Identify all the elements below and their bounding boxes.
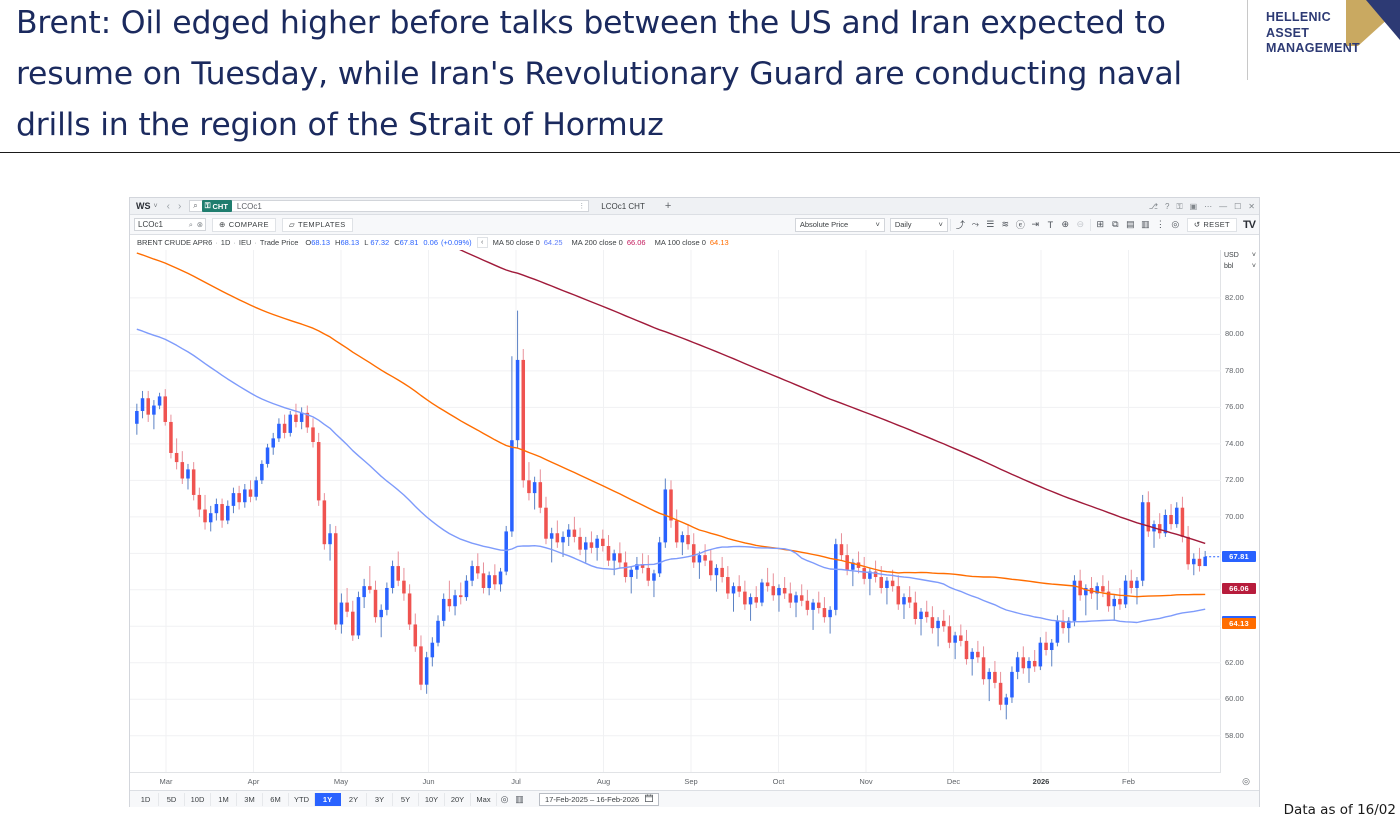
legend-sep: · — [212, 238, 221, 247]
indicators-icon[interactable]: ⤳ — [968, 217, 983, 233]
search-icon: ⌕ — [193, 201, 201, 211]
grid-layout-icon[interactable]: ⊞ — [1093, 217, 1108, 233]
time-tick: Nov — [859, 777, 872, 786]
folder-icon: ▱ — [289, 220, 295, 229]
time-tick: Feb — [1122, 777, 1135, 786]
legend-ma50-label: MA 50 close 0 — [493, 238, 540, 247]
zoom-out-icon: ⊖ — [1073, 217, 1088, 233]
zoom-in-icon[interactable]: ⊕ — [1058, 217, 1073, 233]
clear-icon[interactable]: ⊗ — [197, 220, 203, 229]
tab-lcoc1-cht[interactable]: LCOc1 CHT — [593, 202, 659, 211]
previous-bar-button[interactable]: ‹ — [477, 237, 488, 248]
lock-icon: ⚿ — [205, 201, 211, 211]
timeframe-5y[interactable]: 5Y — [393, 793, 419, 806]
legend-ma50-value: 64.25 — [540, 238, 563, 247]
price-axis[interactable]: USD ˅ bbl ˅ 82.0080.0078.0076.0074.0072.… — [1220, 250, 1259, 772]
axis-settings-icon[interactable]: ◎ — [1242, 776, 1250, 787]
timeframe-3m[interactable]: 3M — [237, 793, 263, 806]
time-tick: Jul — [511, 777, 521, 786]
legend-ma200-label: MA 200 close 0 — [563, 238, 623, 247]
legend-interval: 1D — [221, 238, 231, 247]
workspace-label[interactable]: WS — [130, 201, 154, 211]
settings-icon[interactable]: ◎ — [497, 794, 512, 805]
timeframe-1y[interactable]: 1Y — [315, 793, 341, 806]
symbol-value: LCOc1 — [138, 220, 163, 229]
lock-icon[interactable]: ⚿ — [1176, 202, 1182, 212]
time-tick: Dec — [947, 777, 960, 786]
timeframe-max[interactable]: Max — [471, 793, 497, 806]
snapshot-icon[interactable]: ⧉ — [1108, 217, 1123, 233]
more-icon[interactable]: ⋮ — [1153, 217, 1168, 233]
close-button[interactable]: ✕ — [1248, 202, 1255, 211]
company-logo: HELLENIC ASSET MANAGEMENT — [1248, 0, 1400, 78]
ma-line — [137, 253, 1205, 597]
logo-text: HELLENIC ASSET MANAGEMENT — [1266, 10, 1360, 57]
legend-high-value: 68.13 — [340, 238, 359, 247]
search-icon[interactable]: ⌕ — [189, 220, 193, 230]
price-mode-value: Absolute Price — [800, 220, 848, 229]
address-bar[interactable]: ⌕ ⚿ CHT LCOc1 ⋮ — [189, 200, 589, 212]
legend-ma200-value: 66.06 — [623, 238, 646, 247]
timeframe-10y[interactable]: 10Y — [419, 793, 445, 806]
candlestick-plot[interactable] — [130, 250, 1221, 772]
layout-icon[interactable]: ▥ — [512, 794, 527, 805]
price-tick: 58.00 — [1225, 731, 1244, 740]
price-mode-select[interactable]: Absolute Price ˅ — [795, 218, 885, 232]
timeframe-list: 1D5D10D1M3M6MYTD1Y2Y3Y5Y10Y20YMax — [133, 793, 497, 806]
chevron-down-icon: ˅ — [938, 220, 942, 229]
window-controls: ⎇ ? ⚿ ▣ ⋯ — ☐ ✕ — [1149, 198, 1255, 215]
timeframe-20y[interactable]: 20Y — [445, 793, 471, 806]
more-icon[interactable]: ⋯ — [1204, 202, 1212, 211]
new-tab-button[interactable]: + — [659, 200, 677, 212]
data-as-of-note: Data as of 16/02 — [1284, 802, 1396, 818]
price-tick: 70.00 — [1225, 512, 1244, 521]
price-tick: 78.00 — [1225, 366, 1244, 375]
interval-select[interactable]: Daily ˅ — [890, 218, 948, 232]
workspace-caret-icon[interactable]: ˅ — [154, 203, 163, 210]
timeframe-10d[interactable]: 10D — [185, 793, 211, 806]
time-tick: Apr — [248, 777, 260, 786]
grid-lines — [130, 250, 1221, 772]
legend-close-value: 67.81 — [400, 238, 419, 247]
compare-button[interactable]: ⊕ COMPARE — [212, 218, 276, 232]
chart-svg — [130, 250, 1221, 772]
share-icon[interactable]: ⎇ — [1149, 202, 1158, 211]
timeframe-1d[interactable]: 1D — [133, 793, 159, 806]
time-tick: Mar — [160, 777, 173, 786]
time-tick: Aug — [597, 777, 610, 786]
bars-style-icon[interactable]: ☰ — [983, 217, 998, 233]
candles — [135, 311, 1207, 720]
time-tick: Oct — [773, 777, 785, 786]
symbol-input[interactable]: LCOc1 ⌕ ⊗ — [134, 218, 206, 231]
legend-open-label: O — [298, 238, 311, 247]
compare-label: COMPARE — [229, 220, 269, 229]
reset-button[interactable]: ↺ RESET — [1187, 218, 1237, 232]
chevron-down-icon: ˅ — [1252, 263, 1256, 270]
currency-select[interactable]: USD ˅ — [1220, 250, 1259, 261]
ma100-price-tag: 64.13 — [1222, 618, 1256, 629]
timeframe-2y[interactable]: 2Y — [341, 793, 367, 806]
price-tick: 82.00 — [1225, 293, 1244, 302]
chevron-down-icon: ˅ — [1252, 252, 1256, 259]
chart-area[interactable]: USD ˅ bbl ˅ 82.0080.0078.0076.0074.0072.… — [130, 250, 1259, 790]
price-tick: 62.00 — [1225, 658, 1244, 667]
time-axis[interactable]: MarAprMayJunJulAugSepOctNovDec2026Feb — [130, 772, 1221, 790]
toolbar-divider — [1090, 219, 1091, 231]
app-badge: ⚿ CHT — [202, 200, 232, 212]
slide-header: Brent: Oil edged higher before talks bet… — [0, 0, 1400, 153]
date-range-value: 17-Feb-2025 – 16-Feb-2026 — [545, 795, 639, 804]
ma200-price-tag: 66.06 — [1222, 583, 1256, 594]
legend-instrument: BRENT CRUDE APR6 — [137, 238, 212, 247]
timeframe-3y[interactable]: 3Y — [367, 793, 393, 806]
settings-icon[interactable]: ◎ — [1168, 217, 1183, 233]
price-tick: 60.00 — [1225, 694, 1244, 703]
currency-value: USD — [1224, 252, 1239, 259]
compare-icon: ⊕ — [219, 220, 226, 229]
price-tick: 80.00 — [1225, 329, 1244, 338]
stats-icon[interactable]: ▥ — [1138, 217, 1153, 233]
templates-button[interactable]: ▱ TEMPLATES — [282, 218, 353, 232]
text-icon[interactable]: T — [1043, 217, 1058, 233]
maximize-button[interactable]: ☐ — [1234, 202, 1241, 211]
app-badge-label: CHT — [212, 202, 227, 211]
chevron-down-icon: ˅ — [875, 220, 879, 229]
page-title: Brent: Oil edged higher before talks bet… — [16, 0, 1216, 151]
templates-label: TEMPLATES — [298, 220, 346, 229]
price-tick: 72.00 — [1225, 475, 1244, 484]
timeframe-5d[interactable]: 5D — [159, 793, 185, 806]
chart-toolbar: LCOc1 ⌕ ⊗ ⊕ COMPARE ▱ TEMPLATES Absolute… — [130, 215, 1259, 235]
back-icon[interactable]: ‹ — [163, 201, 174, 212]
timeframe-bar: 1D5D10D1M3M6MYTD1Y2Y3Y5Y10Y20YMax ◎ ▥ 17… — [130, 790, 1259, 807]
window-title-bar: WS ˅ ‹ › ⌕ ⚿ CHT LCOc1 ⋮ LCOc1 CHT + ⎇ ?… — [130, 198, 1259, 215]
legend-open-value: 68.13 — [311, 238, 330, 247]
wave-icon[interactable]: ≋ — [998, 217, 1013, 233]
reset-icon: ↺ — [1194, 220, 1201, 229]
address-more-icon[interactable]: ⋮ — [578, 202, 585, 210]
calendar-icon — [645, 794, 653, 804]
help-icon[interactable]: ? — [1165, 202, 1169, 211]
timeframe-ytd[interactable]: YTD — [289, 793, 315, 806]
price-tick: 76.00 — [1225, 402, 1244, 411]
tradingview-logo: TV — [1243, 219, 1255, 231]
alert-icon[interactable]: ⇥ — [1028, 217, 1043, 233]
trading-terminal-window: WS ˅ ‹ › ⌕ ⚿ CHT LCOc1 ⋮ LCOc1 CHT + ⎇ ?… — [129, 197, 1260, 807]
price-tick: 74.00 — [1225, 439, 1244, 448]
legend-high-label: H — [330, 238, 340, 247]
date-range-picker[interactable]: 17-Feb-2025 – 16-Feb-2026 — [539, 793, 659, 806]
chart-legend: BRENT CRUDE APR6 · 1D · IEU · Trade Pric… — [130, 235, 1259, 250]
time-tick: 2026 — [1033, 777, 1050, 786]
legend-sep: · — [251, 238, 260, 247]
legend-ma100-value: 64.13 — [706, 238, 729, 247]
legend-ma100-label: MA 100 close 0 — [646, 238, 706, 247]
legend-change: 0.06 — [418, 238, 438, 247]
unit-value: bbl — [1224, 263, 1233, 270]
legend-close-label: C — [389, 238, 399, 247]
time-tick: Sep — [684, 777, 697, 786]
ma-line — [137, 329, 1205, 622]
reset-label: RESET — [1203, 220, 1230, 229]
address-symbol: LCOc1 — [232, 202, 262, 211]
image-icon[interactable]: ▤ — [1123, 217, 1138, 233]
legend-low-value: 67.32 — [368, 238, 389, 247]
toolbar-divider — [950, 219, 951, 231]
timeframe-1m[interactable]: 1M — [211, 793, 237, 806]
legend-series: Trade Price — [260, 238, 299, 247]
interval-value: Daily — [895, 220, 912, 229]
legend-low-label: L — [359, 238, 368, 247]
timeframe-6m[interactable]: 6M — [263, 793, 289, 806]
expression-icon[interactable]: ⓔ — [1013, 217, 1028, 233]
forward-icon[interactable]: › — [174, 201, 185, 212]
legend-sep: · — [230, 238, 239, 247]
last-price-tag: 67.81 — [1222, 551, 1256, 562]
panel-icon[interactable]: ▣ — [1190, 202, 1198, 211]
legend-change-pct: (+0.09%) — [438, 238, 472, 247]
unit-select[interactable]: bbl ˅ — [1220, 261, 1259, 272]
minimize-button[interactable]: — — [1219, 202, 1227, 211]
time-tick: Jun — [422, 777, 434, 786]
candlestick-icon[interactable]: ⤴ — [953, 217, 968, 233]
time-tick: May — [334, 777, 348, 786]
legend-exchange: IEU — [239, 238, 252, 247]
